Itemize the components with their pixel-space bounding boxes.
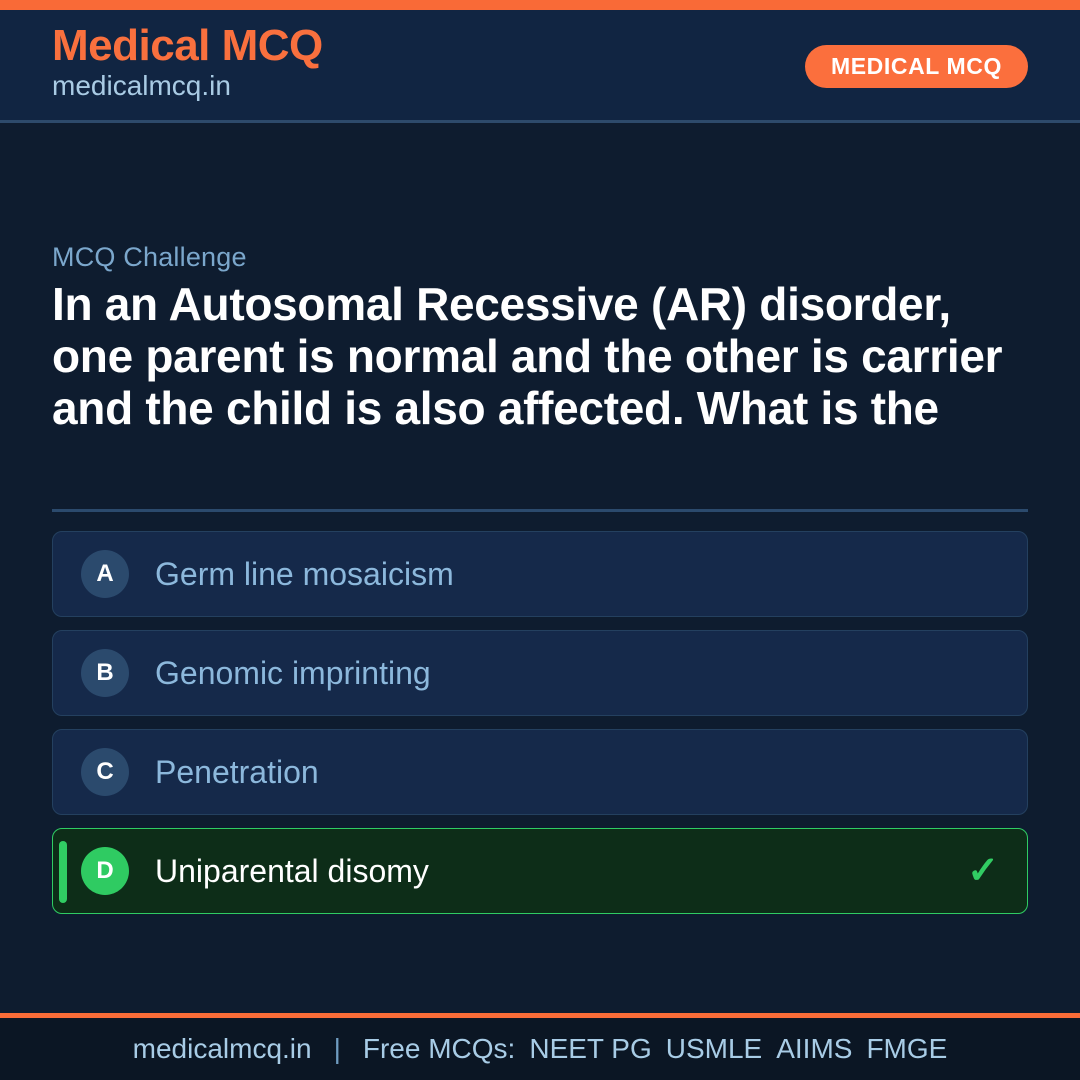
options-list: A Germ line mosaicism B Genomic imprinti…	[52, 531, 1028, 927]
footer-domain[interactable]: medicalmcq.in	[133, 1033, 312, 1065]
eyebrow-label: MCQ Challenge	[52, 242, 247, 273]
option-row-c[interactable]: C Penetration	[52, 729, 1028, 815]
footer-exam-fmge: FMGE	[866, 1033, 947, 1065]
brand-subtitle: medicalmcq.in	[52, 72, 231, 100]
content-area: MCQ Challenge In an Autosomal Recessive …	[0, 123, 1080, 1013]
option-text-c: Penetration	[155, 754, 319, 791]
footer-label: Free MCQs:	[363, 1033, 515, 1065]
question-divider	[52, 509, 1028, 512]
footer-exam-usmle: USMLE	[666, 1033, 762, 1065]
question-text: In an Autosomal Recessive (AR) disorder,…	[52, 278, 1032, 434]
footer-content: medicalmcq.in | Free MCQs: NEET PG USMLE…	[133, 1033, 948, 1065]
top-accent-bar	[0, 0, 1080, 10]
option-letter-d: D	[81, 847, 129, 895]
mcq-card: Medical MCQ medicalmcq.in MEDICAL MCQ MC…	[0, 0, 1080, 1080]
option-letter-c: C	[81, 748, 129, 796]
option-text-b: Genomic imprinting	[155, 655, 431, 692]
option-row-b[interactable]: B Genomic imprinting	[52, 630, 1028, 716]
option-text-d: Uniparental disomy	[155, 853, 429, 890]
correct-accent-bar	[59, 841, 67, 903]
option-letter-b: B	[81, 649, 129, 697]
footer-separator: |	[334, 1033, 341, 1065]
header-bar: Medical MCQ medicalmcq.in MEDICAL MCQ	[0, 10, 1080, 120]
footer-exam-aiims: AIIMS	[776, 1033, 852, 1065]
option-text-a: Germ line mosaicism	[155, 556, 454, 593]
option-row-a[interactable]: A Germ line mosaicism	[52, 531, 1028, 617]
footer-exam-neet-pg: NEET PG	[529, 1033, 651, 1065]
footer-bar: medicalmcq.in | Free MCQs: NEET PG USMLE…	[0, 1018, 1080, 1080]
header-badge[interactable]: MEDICAL MCQ	[805, 45, 1028, 88]
checkmark-icon: ✓	[967, 852, 999, 890]
brand-title: Medical MCQ	[52, 24, 323, 68]
option-letter-a: A	[81, 550, 129, 598]
option-row-d[interactable]: D Uniparental disomy ✓	[52, 828, 1028, 914]
